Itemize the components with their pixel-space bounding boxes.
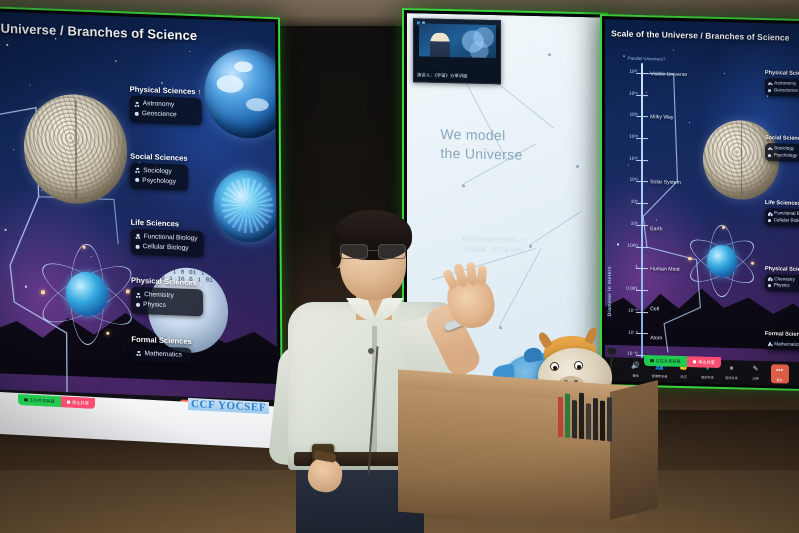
branch-heading: Formal Sciences [765,331,799,338]
y-axis-label: Diameter in meters [607,157,613,316]
parallel-universes-label: Parallel Universes? [628,56,666,62]
tick-value: 10²¹ [617,112,638,118]
branch-box: Sociology Psychology [130,162,188,190]
toolbar-label: 暂停共享 [725,375,738,380]
presenter-glasses [338,244,410,259]
dot-icon [135,112,139,116]
dot-icon [136,303,140,307]
toolbar-button-annotate[interactable]: ✎ 注释 [747,365,765,381]
atom-illustration [687,224,757,298]
tick-value: 10²⁷ [617,68,638,74]
toolbar-button-more[interactable]: ••• 更多 [771,364,789,384]
branch-item-label: Cellular Biology [143,242,189,254]
audio-icon: 🔊 [631,362,640,372]
cluster-icon [768,343,771,346]
model-title-line1: We model [440,126,505,143]
model-title-line2: the Universe [440,145,522,163]
stop-square-icon [693,360,697,364]
branch-box: Functional Biology Cellular Biology [765,208,799,227]
pip-caption: 演讲人：《宇宙》分享讲座 [417,72,497,80]
branch-item-label: Physics [774,283,790,290]
slide-scale-of-universe-right: Scale of the Universe / Branches of Scie… [605,19,799,386]
lock-icon [24,398,28,402]
toolbar-label: 我的共享 [701,375,714,380]
scale-label-earth: Earth [650,227,662,233]
dot-icon [135,178,139,182]
toolbar-button-pause-share[interactable]: ⏸ 暂停共享 [723,364,741,380]
branch-item-label: Geoscience [142,109,177,120]
presenter-lapel-mic [368,348,374,354]
scale-label-cell: Cell [650,306,659,312]
wooden-podium [398,378,658,533]
podium-books [558,389,630,443]
cow-eye-left [550,362,559,371]
branch-group-physical-up: Physical Sciences ↑ Astronomy Geoscience [130,85,202,125]
branch-heading: Physical Sciences ↓ [131,276,203,288]
branch-group-life: Life Sciences Functional Biology Cellula… [765,200,799,227]
speaker-video-thumbnail[interactable]: 演讲人：《宇宙》分享讲座 [413,18,501,84]
annotate-pen-icon: ✎ [753,365,759,375]
branch-box: Mathematics [765,339,799,351]
branch-group-formal: Formal Sciences Mathematics [131,334,192,364]
branch-heading: Formal Sciences [131,334,191,345]
tick-value: 10¹² [617,177,638,183]
branch-group-physical-down: Physical Sciences Chemistry Physics [765,266,799,293]
branch-box: Astronomy Geoscience [765,78,799,97]
glasses-right-lens [378,244,406,259]
branch-item: Psychology [135,175,181,187]
cluster-icon [768,147,771,150]
branch-item-label: Geoscience [774,87,798,94]
cluster-icon [135,168,140,173]
branch-heading: Life Sciences [765,200,799,207]
toolbar-label: 更多 [776,377,782,382]
glasses-bridge [368,250,378,251]
branch-heading: Social Sciences [130,151,187,162]
pip-desk [419,56,496,67]
brain-illustration [24,93,128,206]
more-icon: ••• [776,366,783,376]
cluster-icon [136,351,141,356]
scale-label-solar-system: Solar System [650,179,681,186]
tick-value: 10¹⁸ [617,133,638,139]
pip-video-feed [419,23,496,67]
branch-item: Geoscience [768,87,799,95]
glasses-left-lens [340,244,368,259]
tick-value: 1000 [613,242,638,248]
tick-value: 1 [617,264,638,270]
branch-group-social: Social Sciences Sociology Psychology [130,151,188,190]
stop-share-label: 停止共享 [698,359,715,365]
dot-icon [768,89,771,92]
cluster-icon [136,293,141,298]
tick-value: 10¹⁵ [617,155,638,161]
share-status-banner-right[interactable]: 正在共享屏幕 停止共享 [644,355,721,368]
right-projection-screen[interactable]: Scale of the Universe / Branches of Scie… [600,14,799,391]
slide-title-center: We model the Universe [440,125,522,165]
atom-illustration [39,242,134,346]
branch-item: Cellular Biology [768,217,799,225]
branch-heading: Physical Sciences [765,70,799,77]
tick-value: 10⁻⁶ [617,307,638,314]
sharing-screen-indicator: 正在共享屏幕 [644,355,687,367]
tick-value: 10⁹ [617,199,638,205]
branch-item-label: Mathematics [144,349,181,360]
scale-label-visible-universe: Visible Universe [650,71,687,78]
branch-box: Mathematics [131,345,191,364]
scale-axis-line [641,63,643,360]
dot-icon [136,245,140,249]
cow-eye-right [574,361,583,370]
branch-box: Chemistry Physics [765,274,799,293]
branch-group-social: Social Sciences Sociology Psychology [765,135,799,162]
sharing-label: 正在共享屏幕 [656,358,681,365]
left-projection-screen[interactable]: Universe / Branches of Science verse em … [0,6,283,429]
scale-label-milky-way: Milky Way [650,114,673,121]
dot-icon [768,154,771,157]
slide-scale-of-universe-left: Universe / Branches of Science verse em … [0,11,278,424]
tick-value: 10⁻⁹ [617,329,638,336]
branch-group-physical-down: Physical Sciences ↓ Chemistry Physics [131,276,203,316]
dot-icon [768,285,771,288]
stop-share-button[interactable]: 停止共享 [687,356,721,368]
branch-group-formal: Formal Sciences Mathematics [765,331,799,351]
sharing-label: 正在共享屏幕 [30,397,55,404]
branch-heading: Life Sciences [131,218,204,230]
branch-item: Physics [768,283,799,291]
sharing-screen-indicator: 正在共享屏幕 [18,394,61,407]
stop-share-label: 停止共享 [72,399,89,406]
scale-label-human-mind: Human Mind [650,266,679,273]
branch-item: Cellular Biology [136,242,198,254]
branch-item-label: Psychology [142,176,176,187]
lock-icon [650,359,654,363]
slide-title-left: Universe / Branches of Science [1,20,198,43]
tick-value: 10²⁴ [617,90,638,96]
cluster-icon [768,277,771,280]
branch-box: Sociology Psychology [765,143,799,162]
branch-item-label: Mathematics [774,341,799,349]
earth-illustration [204,48,278,140]
toolbar-label: 反应 [680,374,686,379]
screenshot-stage: Universe / Branches of Science verse em … [0,0,799,533]
branch-group-physical-up: Physical Sciences Astronomy Geoscience [765,70,799,97]
branch-item-label: Cellular Biology [774,218,799,226]
branch-box: Functional Biology Cellular Biology [131,229,204,258]
branch-box: Chemistry Physics [131,287,203,316]
branch-item: Geoscience [135,109,196,121]
branch-heading: Physical Sciences ↑ [130,85,202,97]
tick-value: 0.001 [611,285,638,291]
branch-item: Mathematics [136,348,185,360]
branch-group-life: Life Sciences Functional Biology Cellula… [131,218,204,258]
toolbar-button-audio[interactable]: 🔊 音频 [627,362,645,378]
pause-icon: ⏸ [730,364,734,374]
cluster-icon [136,234,141,239]
stop-share-button[interactable]: 停止共享 [61,396,95,409]
branch-heading: Physical Sciences [765,266,799,273]
branch-box: Astronomy Geoscience [130,96,202,125]
dot-icon [768,219,771,222]
branch-item: Psychology [768,152,799,160]
tick-value: 10⁶ [617,220,638,226]
stop-square-icon [67,400,71,404]
cluster-icon [135,102,140,107]
branch-item-label: Physics [143,300,166,311]
branch-heading: Social Sciences [765,135,799,142]
slide-title-right: Scale of the Universe / Branches of Scie… [611,29,789,43]
cluster-icon [768,212,771,215]
branch-item-label: Psychology [774,152,798,159]
branch-item: Mathematics [768,341,799,349]
cluster-icon [768,82,771,85]
scale-label-atom: Atom [650,335,662,341]
branch-item: Physics [136,300,197,312]
toolbar-label: 注释 [752,376,758,381]
